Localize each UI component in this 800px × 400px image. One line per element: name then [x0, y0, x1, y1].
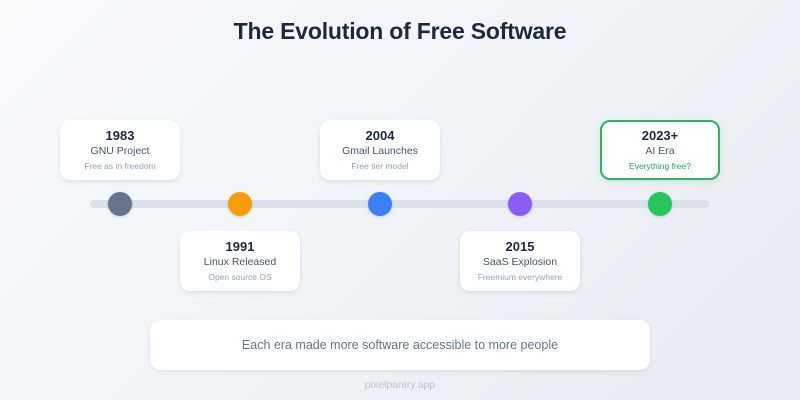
summary-text: Each era made more software accessible t…	[242, 338, 558, 352]
timeline-card-note: Freemium everywhere	[478, 271, 563, 283]
timeline-card-label: SaaS Explosion	[483, 255, 557, 270]
timeline-dot-1991[interactable]	[228, 192, 252, 216]
timeline-card-note: Free as in freedom	[84, 160, 155, 172]
timeline-card-year: 2015	[506, 239, 535, 255]
timeline-card-note: Everything free?	[629, 160, 691, 172]
timeline-card-1991[interactable]: 1991 Linux Released Open source OS	[180, 231, 300, 291]
timeline-card-label: Gmail Launches	[342, 144, 418, 159]
timeline-card-label: GNU Project	[91, 144, 150, 159]
timeline-card-year: 1991	[226, 239, 255, 255]
timeline-card-label: Linux Released	[204, 255, 276, 270]
timeline-track	[90, 200, 710, 208]
timeline-card-2015[interactable]: 2015 SaaS Explosion Freemium everywhere	[460, 231, 580, 291]
watermark: pixelpantry.app	[0, 379, 800, 391]
timeline-dot-1983[interactable]	[108, 192, 132, 216]
timeline-card-1983[interactable]: 1983 GNU Project Free as in freedom	[60, 120, 180, 180]
timeline-card-year: 2004	[366, 128, 395, 144]
timeline-dot-2023[interactable]	[648, 192, 672, 216]
infographic-canvas: The Evolution of Free Software 1983 GNU …	[0, 0, 800, 400]
timeline-card-label: AI Era	[645, 144, 674, 159]
timeline-card-year: 2023+	[642, 128, 679, 144]
page-title: The Evolution of Free Software	[0, 18, 800, 45]
timeline-card-year: 1983	[106, 128, 135, 144]
timeline-dot-2004[interactable]	[368, 192, 392, 216]
timeline-card-2004[interactable]: 2004 Gmail Launches Free tier model	[320, 120, 440, 180]
timeline-card-note: Open source OS	[208, 271, 271, 283]
timeline-card-2023[interactable]: 2023+ AI Era Everything free?	[600, 120, 720, 180]
summary-banner: Each era made more software accessible t…	[150, 320, 650, 370]
timeline-dot-2015[interactable]	[508, 192, 532, 216]
timeline-card-note: Free tier model	[351, 160, 408, 172]
